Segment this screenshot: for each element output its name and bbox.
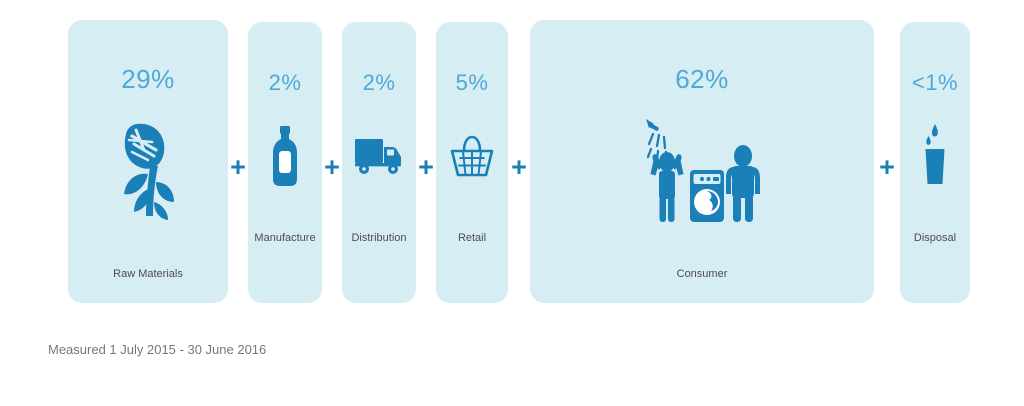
plus-operator-5: + — [876, 154, 898, 181]
stage-percent-raw-materials: 29% — [68, 64, 228, 95]
stage-panel-retail: 5% Retail — [436, 22, 508, 303]
stage-percent-manufacture: 2% — [248, 70, 322, 96]
stage-percent-retail: 5% — [436, 70, 508, 96]
stage-label-manufacture: Manufacture — [248, 232, 322, 245]
waste-bin-droplet-icon — [900, 122, 970, 188]
detergent-bottle-icon — [248, 126, 322, 188]
plus-operator-1: + — [227, 154, 249, 181]
plus-operator-3: + — [415, 154, 437, 181]
stage-label-consumer: Consumer — [530, 268, 874, 281]
stage-panel-manufacture: 2% Manufacture — [248, 22, 322, 303]
measurement-period-caption: Measured 1 July 2015 - 30 June 2016 — [48, 342, 266, 358]
stage-label-raw-materials: Raw Materials — [68, 268, 228, 281]
stage-percent-consumer: 62% — [530, 64, 874, 95]
stage-panel-consumer: 62% — [530, 20, 874, 303]
lifecycle-infographic: 29% Raw Materials + — [0, 0, 1024, 406]
plus-operator-4: + — [508, 154, 530, 181]
stage-panel-raw-materials: 29% Raw Materials — [68, 20, 228, 303]
stage-label-distribution: Distribution — [342, 232, 416, 245]
stage-percent-disposal: <1% — [900, 70, 970, 96]
plus-operator-2: + — [321, 154, 343, 181]
stage-label-retail: Retail — [436, 232, 508, 245]
shopping-basket-icon — [436, 132, 508, 180]
stage-panel-disposal: <1% Disposal — [900, 22, 970, 303]
stage-percent-distribution: 2% — [342, 70, 416, 96]
shower-washer-person-icon — [530, 116, 874, 226]
stage-label-disposal: Disposal — [900, 232, 970, 245]
stage-panel-distribution: 2% Distribution — [342, 22, 416, 303]
plant-leaf-icon — [68, 116, 228, 222]
delivery-truck-icon — [342, 132, 416, 180]
